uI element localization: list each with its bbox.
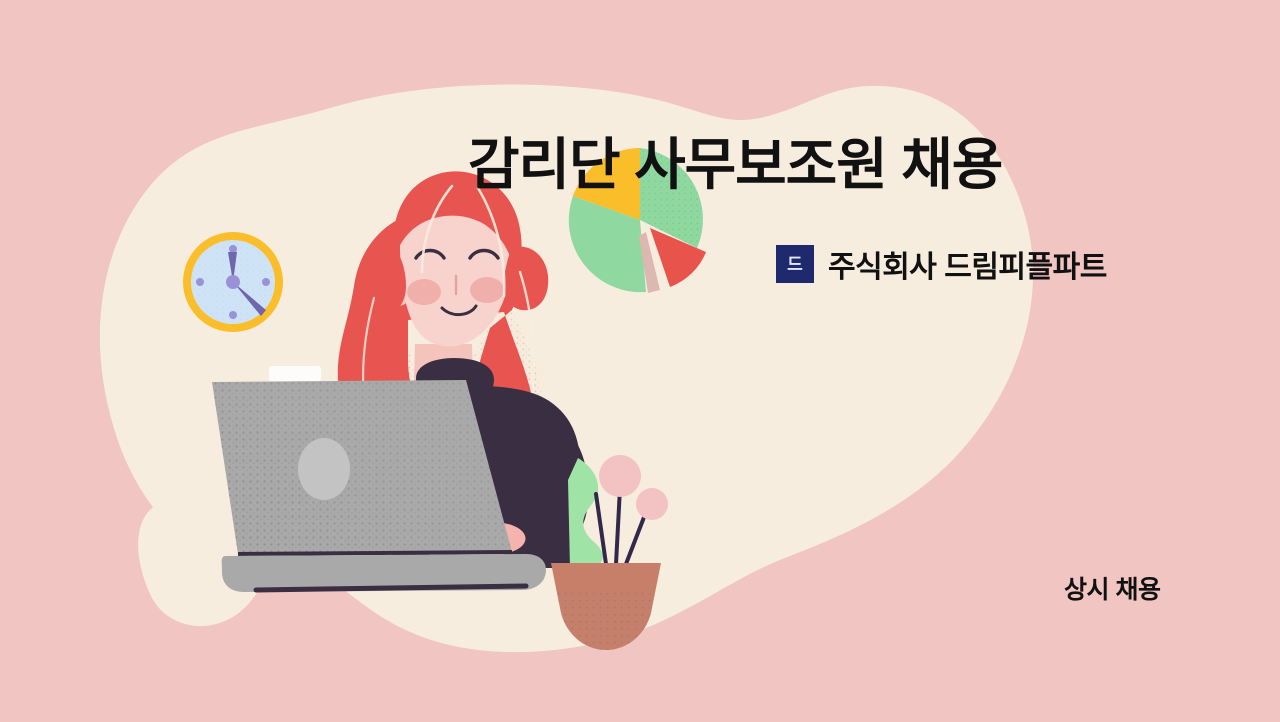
company-identity: 드 주식회사 드림피플파트 (776, 242, 1107, 286)
clock-center-pin (226, 275, 240, 289)
plant-stem-2 (616, 488, 620, 564)
status-badge: 상시 채용 (1064, 570, 1160, 606)
page-title: 감리단 사무보조원 채용 (468, 134, 1168, 197)
plant-pot-texture (545, 590, 670, 656)
clock-mark-3 (262, 278, 270, 286)
laptop-hinge (238, 552, 512, 554)
clock-mark-12 (229, 245, 237, 253)
clock-mark-6 (229, 311, 237, 319)
hair-curl-right (504, 247, 549, 311)
clock-mark-9 (196, 278, 204, 286)
company-name: 주식회사 드림피플파트 (828, 242, 1107, 286)
laptop-logo-badge (298, 438, 350, 500)
plant-flower-large (599, 455, 641, 497)
plant-flower-small (636, 488, 668, 520)
recruitment-banner: 감리단 사무보조원 채용 드 주식회사 드림피플파트 상시 채용 (0, 0, 1280, 722)
wall-clock-icon (180, 230, 290, 340)
cheek-right (470, 277, 504, 303)
cheek-left (407, 279, 441, 305)
cup-lid (269, 366, 321, 382)
company-logo-icon: 드 (776, 245, 814, 283)
plant-stem-3 (626, 512, 646, 564)
